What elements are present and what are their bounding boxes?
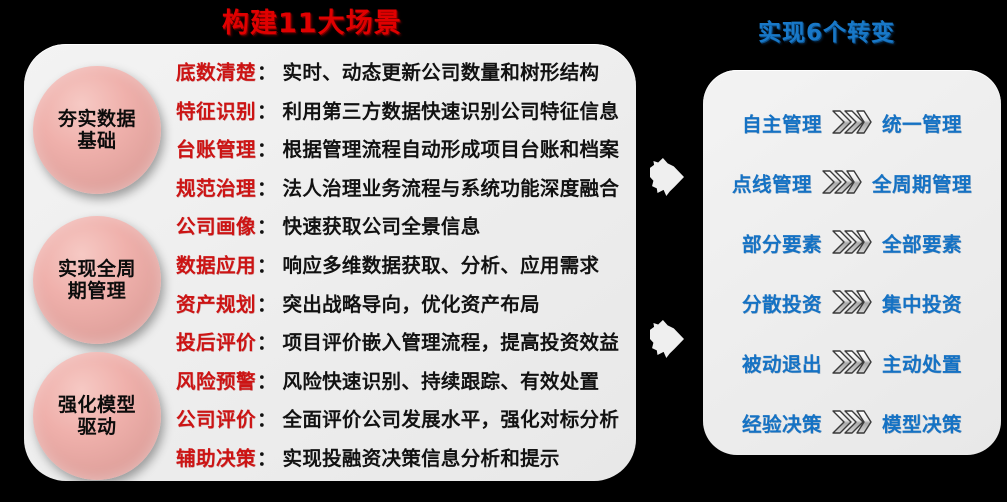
transformation-from: 部分要素 [742, 228, 822, 257]
transformation-list: 自主管理 统一管理 点线管理 [713, 92, 991, 452]
transformation-to: 全部要素 [882, 228, 962, 257]
transformation-from: 分散投资 [742, 288, 822, 317]
transformation-item: 点线管理 全周期管理 [713, 152, 991, 212]
scenario-label: 数据应用 [176, 249, 256, 278]
pillar-label-line1: 夯实数据 [58, 108, 136, 130]
scenario-colon: ： [257, 210, 277, 239]
scenario-description: 实时、动态更新公司数量和树形结构 [283, 56, 600, 85]
pillar-lifecycle: 实现全周 期管理 [33, 216, 161, 344]
scenario-list: 底数清楚 ： 实时、动态更新公司数量和树形结构 特征识别 ： 利用第三方数据快速… [176, 56, 626, 481]
panel-connector-lower-icon [650, 320, 684, 358]
transformation-to: 主动处置 [882, 348, 962, 377]
double-chevron-right-icon [821, 169, 863, 195]
pillar-label-line1: 实现全周 [58, 258, 136, 280]
transformation-item: 被动退出 主动处置 [713, 332, 991, 392]
scenario-colon: ： [257, 249, 277, 278]
double-chevron-right-icon [831, 409, 873, 435]
transformation-item: 自主管理 统一管理 [713, 92, 991, 152]
scenario-label: 投后评价 [176, 326, 256, 355]
scenario-colon: ： [257, 172, 277, 201]
double-chevron-right-icon [831, 229, 873, 255]
scenario-label: 台账管理 [176, 133, 256, 162]
pillar-label-line2: 基础 [77, 130, 116, 152]
transformation-item: 分散投资 集中投资 [713, 272, 991, 332]
panel-connector-upper-icon [650, 158, 684, 196]
transformation-to: 全周期管理 [872, 168, 972, 197]
scenario-label: 公司画像 [176, 210, 256, 239]
transformation-to: 集中投资 [882, 288, 962, 317]
scenario-colon: ： [257, 403, 277, 432]
scenario-description: 全面评价公司发展水平，强化对标分析 [283, 403, 620, 432]
scenario-item: 投后评价 ： 项目评价嵌入管理流程，提高投资效益 [176, 326, 626, 365]
transformation-item: 部分要素 全部要素 [713, 212, 991, 272]
scenario-item: 风险预警 ： 风险快速识别、持续跟踪、有效处置 [176, 365, 626, 404]
scenario-description: 项目评价嵌入管理流程，提高投资效益 [283, 326, 620, 355]
page-title-right: 实现6个转变 [758, 13, 895, 47]
transformation-from: 点线管理 [732, 168, 812, 197]
transformation-from: 经验决策 [742, 408, 822, 437]
scenario-item: 公司评价 ： 全面评价公司发展水平，强化对标分析 [176, 403, 626, 442]
scenario-item: 底数清楚 ： 实时、动态更新公司数量和树形结构 [176, 56, 626, 95]
scenario-label: 公司评价 [176, 403, 256, 432]
pillar-model-driven: 强化模型 驱动 [33, 352, 161, 480]
scenario-item: 辅助决策 ： 实现投融资决策信息分析和提示 [176, 442, 626, 481]
scenario-colon: ： [257, 56, 277, 85]
scenario-description: 实现投融资决策信息分析和提示 [283, 442, 560, 471]
scenario-label: 底数清楚 [176, 56, 256, 85]
pillar-label-line2: 驱动 [77, 416, 116, 438]
scenario-colon: ： [257, 95, 277, 124]
scenario-label: 风险预警 [176, 365, 256, 394]
double-chevron-right-icon [831, 289, 873, 315]
scenario-colon: ： [257, 442, 277, 471]
scenario-label: 规范治理 [176, 172, 256, 201]
transformation-item: 经验决策 模型决策 [713, 392, 991, 452]
scenario-item: 资产规划 ： 突出战略导向，优化资产布局 [176, 288, 626, 327]
scenario-item: 公司画像 ： 快速获取公司全景信息 [176, 210, 626, 249]
scenario-colon: ： [257, 133, 277, 162]
scenario-label: 辅助决策 [176, 442, 256, 471]
scenario-description: 利用第三方数据快速识别公司特征信息 [283, 95, 620, 124]
transformation-to: 统一管理 [882, 108, 962, 137]
double-chevron-right-icon [831, 349, 873, 375]
double-chevron-right-icon [831, 109, 873, 135]
scenario-item: 台账管理 ： 根据管理流程自动形成项目台账和档案 [176, 133, 626, 172]
scenario-description: 风险快速识别、持续跟踪、有效处置 [283, 365, 600, 394]
scenario-description: 快速获取公司全景信息 [283, 210, 481, 239]
page-title-left: 构建11大场景 [222, 1, 402, 40]
scenario-item: 数据应用 ： 响应多维数据获取、分析、应用需求 [176, 249, 626, 288]
transformation-from: 被动退出 [742, 348, 822, 377]
scenario-colon: ： [257, 365, 277, 394]
scenario-description: 响应多维数据获取、分析、应用需求 [283, 249, 600, 278]
scenario-description: 突出战略导向，优化资产布局 [283, 288, 540, 317]
scenario-colon: ： [257, 326, 277, 355]
pillar-label-line2: 期管理 [68, 280, 127, 302]
scenario-item: 特征识别 ： 利用第三方数据快速识别公司特征信息 [176, 95, 626, 134]
scenario-item: 规范治理 ： 法人治理业务流程与系统功能深度融合 [176, 172, 626, 211]
scenario-label: 特征识别 [176, 95, 256, 124]
transformation-to: 模型决策 [882, 408, 962, 437]
scenario-colon: ： [257, 288, 277, 317]
scenario-description: 法人治理业务流程与系统功能深度融合 [283, 172, 620, 201]
pillar-label-line1: 强化模型 [58, 394, 136, 416]
transformation-from: 自主管理 [742, 108, 822, 137]
scenario-label: 资产规划 [176, 288, 256, 317]
scenario-description: 根据管理流程自动形成项目台账和档案 [283, 133, 620, 162]
pillar-foundation: 夯实数据 基础 [33, 66, 161, 194]
